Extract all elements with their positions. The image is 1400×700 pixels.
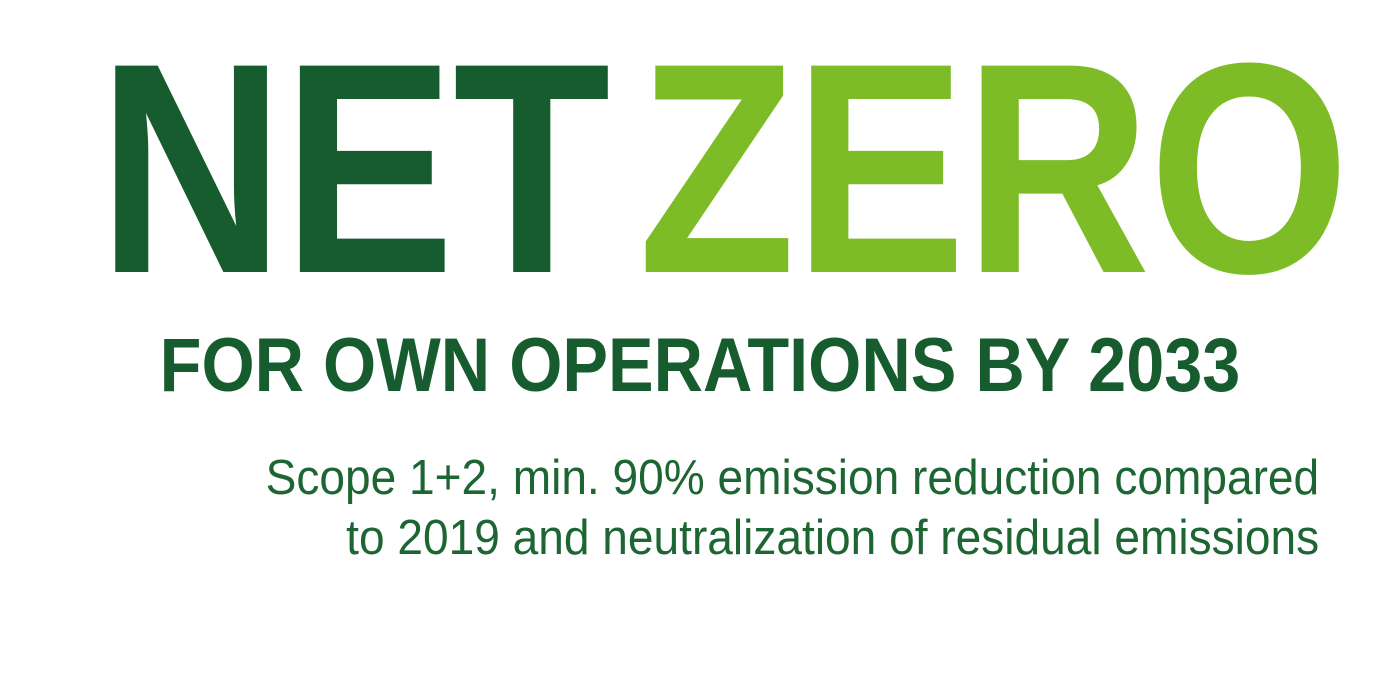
subheadline: FOR OWN OPERATIONS BY 2033 bbox=[70, 328, 1330, 404]
net-zero-poster: NETZERO FOR OWN OPERATIONS BY 2033 Scope… bbox=[0, 0, 1400, 700]
descriptor-line-1: Scope 1+2, min. 90% emission reduction c… bbox=[165, 448, 1319, 508]
headline-word-zero: ZERO bbox=[638, 0, 1348, 336]
headline-word-net: NET bbox=[98, 0, 609, 336]
headline: NETZERO bbox=[98, 18, 1302, 318]
descriptor-text: Scope 1+2, min. 90% emission reduction c… bbox=[165, 448, 1319, 568]
descriptor-line-2: to 2019 and neutralization of residual e… bbox=[165, 508, 1319, 568]
